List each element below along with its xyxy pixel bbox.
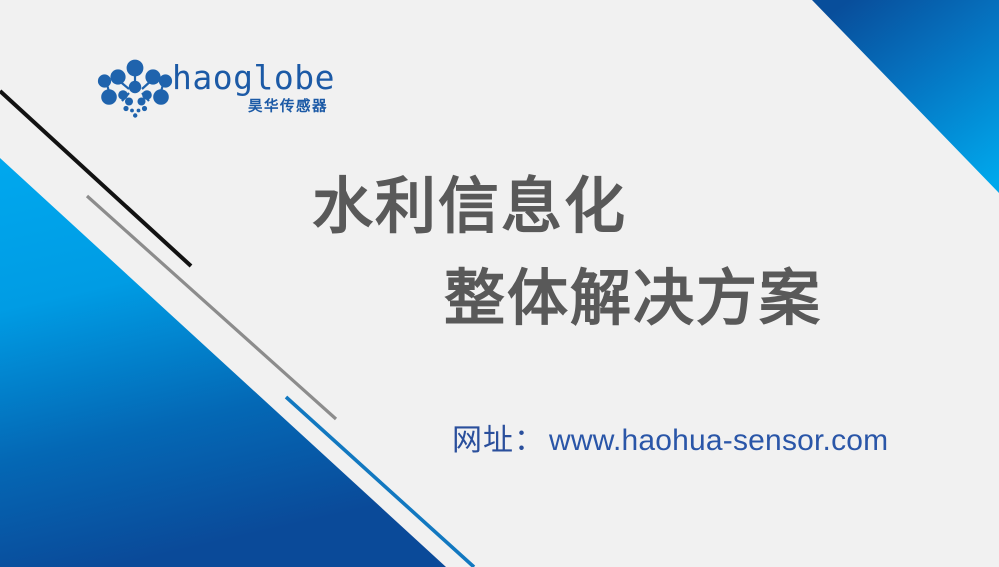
logo-subtitle-cn: 昊华传感器 bbox=[248, 98, 328, 116]
presentation-slide: haoglobe 昊华传感器 水利信息化 整体解决方案 网址：www.haohu… bbox=[0, 0, 999, 567]
title-line-2: 整体解决方案 bbox=[0, 252, 999, 344]
logo-wordmark-text: haoglobe bbox=[172, 58, 312, 98]
page-title: 水利信息化 整体解决方案 bbox=[0, 160, 999, 344]
company-logo: haoglobe 昊华传感器 bbox=[96, 55, 316, 125]
website-url[interactable]: www.haohua-sensor.com bbox=[549, 424, 888, 457]
title-line-1: 水利信息化 bbox=[0, 160, 999, 252]
website-line: 网址：www.haohua-sensor.com bbox=[452, 418, 888, 469]
logo-wordmark: haoglobe bbox=[172, 58, 312, 98]
website-label: 网址： bbox=[452, 424, 545, 457]
network-nodes-icon bbox=[96, 57, 174, 121]
